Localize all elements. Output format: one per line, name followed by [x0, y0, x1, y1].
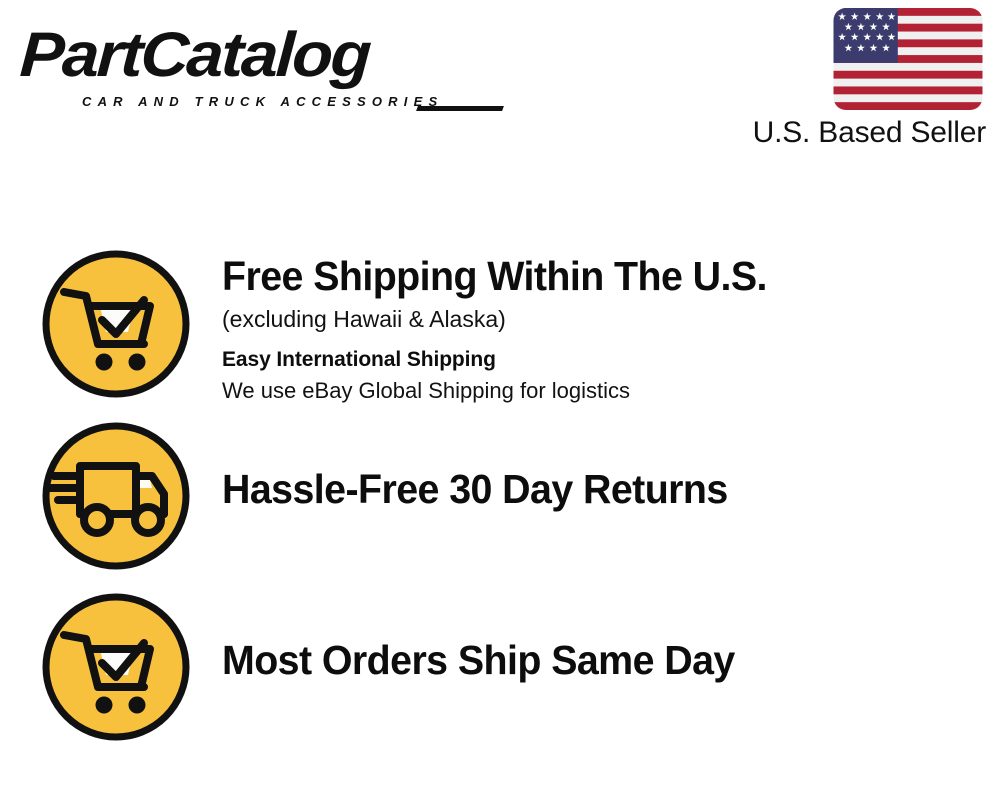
us-based-seller-label: U.S. Based Seller	[702, 116, 986, 150]
shopping-cart-check-icon	[40, 591, 192, 743]
feature-title: Most Orders Ship Same Day	[222, 636, 950, 684]
feature-text-block: Most Orders Ship Same Day	[192, 591, 980, 684]
feature-row: Hassle-Free 30 Day Returns	[40, 420, 980, 572]
delivery-truck-icon	[40, 420, 192, 572]
brand-underline-swash	[416, 106, 504, 111]
brand-logo: PartCatalog CAR AND TRUCK ACCESSORIES	[22, 22, 492, 114]
us-based-seller-badge: U.S. Based Seller	[702, 8, 992, 150]
feature-row: Free Shipping Within The U.S. (excluding…	[40, 248, 980, 405]
brand-wordmark: PartCatalog	[18, 22, 520, 88]
feature-title: Hassle-Free 30 Day Returns	[222, 465, 950, 513]
brand-tagline: CAR AND TRUCK ACCESSORIES	[82, 94, 443, 109]
feature-note: (excluding Hawaii & Alaska)	[222, 304, 980, 334]
shopping-cart-check-icon	[40, 248, 192, 400]
promo-banner: PartCatalog CAR AND TRUCK ACCESSORIES	[0, 0, 1000, 800]
us-flag-icon	[832, 8, 984, 110]
feature-text-block: Hassle-Free 30 Day Returns	[192, 420, 980, 513]
feature-sub-note: We use eBay Global Shipping for logistic…	[222, 376, 980, 405]
feature-sub-title: Easy International Shipping	[222, 346, 980, 374]
feature-text-block: Free Shipping Within The U.S. (excluding…	[192, 248, 980, 405]
feature-row: Most Orders Ship Same Day	[40, 591, 980, 743]
feature-title: Free Shipping Within The U.S.	[222, 252, 950, 300]
banner-header: PartCatalog CAR AND TRUCK ACCESSORIES	[0, 0, 1000, 165]
